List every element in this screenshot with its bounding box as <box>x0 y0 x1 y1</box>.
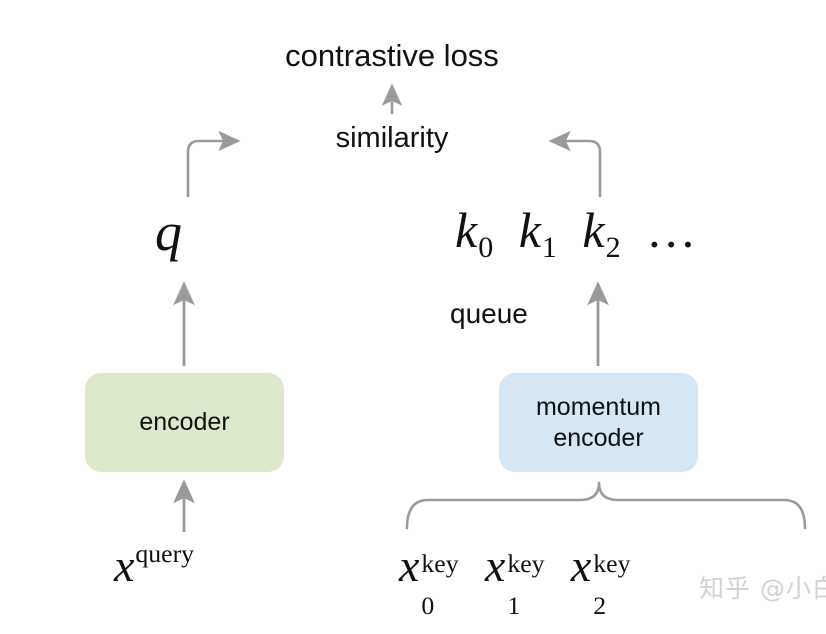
query-input-label: xquery <box>114 543 193 589</box>
key-symbol-2: k2 <box>582 205 619 255</box>
key-input-0: xkey0 <box>399 543 453 589</box>
similarity-label: similarity <box>0 124 826 153</box>
key-input-2: xkey2 <box>571 543 625 589</box>
momentum-encoder-box[interactable]: momentum encoder <box>499 373 698 472</box>
key-inputs-row: xkey0 xkey1 xkey2 <box>399 543 645 589</box>
queue-label: queue <box>450 300 528 328</box>
watermark: 知乎 @小白 <box>699 569 826 605</box>
connector-layer <box>0 0 826 634</box>
contrastive-loss-label: contrastive loss <box>0 40 826 71</box>
key-input-1: xkey1 <box>485 543 539 589</box>
encoder-box-label: encoder <box>139 407 229 438</box>
key-inputs-brace <box>407 483 805 528</box>
momentum-encoder-box-label: momentum encoder <box>536 392 661 453</box>
key-symbol-0: k0 <box>455 205 492 255</box>
keys-ellipsis: … <box>646 205 698 255</box>
key-representations-row: k0 k1 k2 … <box>455 205 698 255</box>
query-representation-label: q <box>155 205 182 259</box>
key-symbol-1: k1 <box>519 205 556 255</box>
encoder-box[interactable]: encoder <box>85 373 284 472</box>
moco-architecture-diagram: contrastive loss similarity q k0 k1 k2 …… <box>0 0 826 634</box>
